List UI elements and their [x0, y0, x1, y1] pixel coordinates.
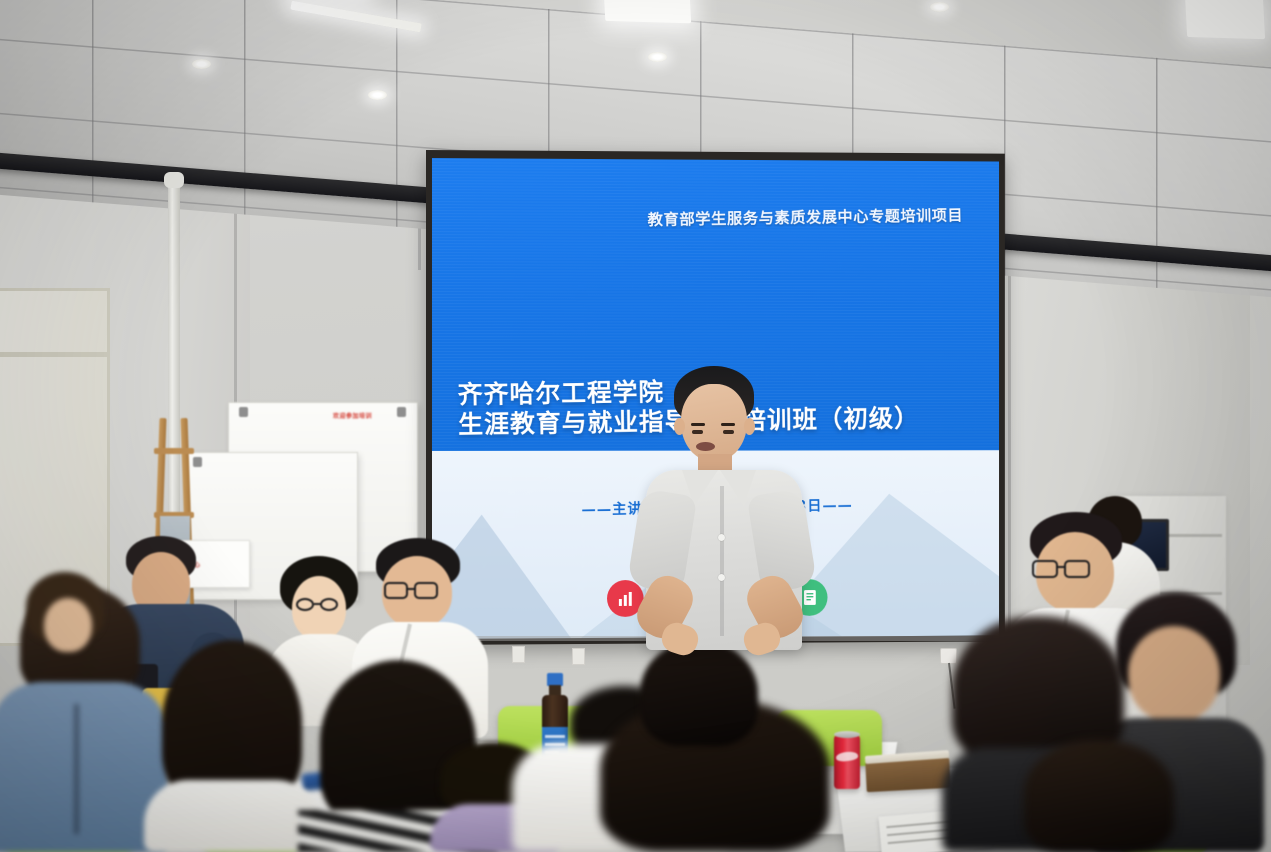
can-top	[834, 731, 860, 738]
presenter-shirt-button-2	[718, 574, 725, 581]
presenter-shirt-placket	[720, 486, 724, 636]
presenter-mouth	[696, 442, 715, 451]
presenter-brow-left	[691, 423, 705, 426]
wall-bracket-2	[572, 648, 585, 665]
presenter-ear-right	[744, 418, 755, 435]
glasses-bridge	[1057, 566, 1066, 568]
person-head	[1128, 626, 1220, 722]
glasses-bridge	[407, 588, 416, 590]
paper-line-2	[887, 829, 949, 836]
glasses-left-lens	[384, 582, 408, 599]
ceiling-downlight-4	[930, 2, 949, 12]
person-hair	[1024, 740, 1174, 852]
person-body	[144, 780, 320, 852]
presenter	[636, 366, 812, 666]
glasses-bridge	[314, 603, 321, 605]
person-head	[44, 598, 92, 652]
audience-person-far-left-small	[22, 572, 108, 668]
easel-crossbar-top	[154, 448, 194, 454]
glasses-right-lens	[414, 582, 438, 599]
ceiling-downlight-3	[648, 52, 667, 62]
ceiling-panel-light-1	[603, 0, 691, 23]
audience-person-white-blouse-girl	[138, 640, 324, 852]
presenter-ear-left	[674, 418, 685, 435]
presenter-face	[681, 384, 747, 462]
ceiling-downlight-2	[368, 90, 387, 100]
ceiling-panel-light-2	[1185, 0, 1265, 39]
glasses-right-lens	[320, 598, 338, 611]
ceiling-downlight-1	[192, 59, 211, 69]
whiteboard-clip-right	[397, 407, 406, 417]
glasses-left-lens	[296, 598, 314, 611]
can-logo-wave	[836, 751, 859, 762]
presenter-brow-right	[721, 423, 735, 426]
whiteboard-note-text: 欢迎参加培训	[333, 411, 372, 420]
brown-book[interactable]	[865, 758, 950, 792]
glasses-left-lens	[1032, 560, 1058, 578]
presenter-shirt-button-1	[718, 534, 725, 541]
denim-seam	[74, 704, 79, 834]
presenter-eye-left	[692, 430, 703, 434]
classroom-photo-scene: 欢迎参加培训 素质发展中心 教育部学生服务与素质发展中心专题培训项目 齐齐哈尔工…	[0, 0, 1271, 852]
audience-person-ponytail-right	[1024, 740, 1174, 852]
presenter-eye-right	[723, 430, 734, 434]
pipe-cap	[164, 172, 184, 188]
door-rail	[0, 352, 110, 357]
slide-eyebrow-text: 教育部学生服务与素质发展中心专题培训项目	[647, 203, 963, 229]
glasses-right-lens	[1064, 560, 1090, 578]
whiteboard-clip-left	[239, 407, 248, 417]
wall-bracket-1	[512, 646, 525, 663]
coke-can[interactable]	[834, 735, 860, 789]
